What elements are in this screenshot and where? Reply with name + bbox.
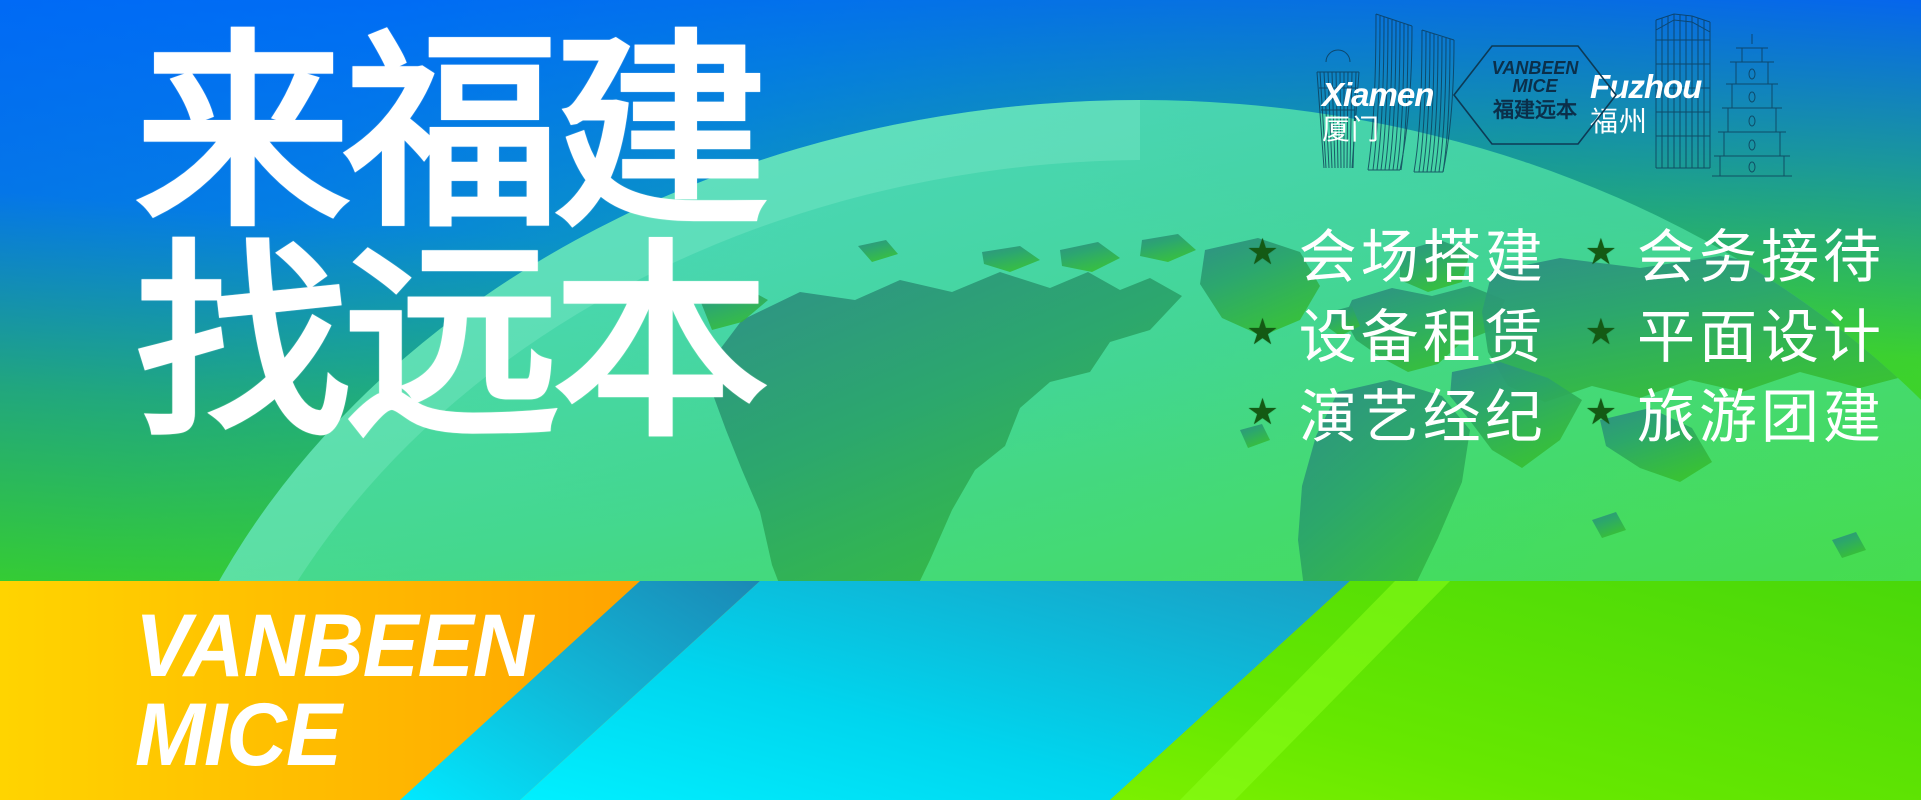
star-icon: ★ [1246, 234, 1278, 270]
star-icon: ★ [1585, 314, 1617, 350]
star-icon: ★ [1585, 394, 1617, 430]
city-label-xiamen: Xiamen 厦门 [1322, 78, 1433, 144]
service-item: ★ 会场搭建 [1246, 210, 1546, 294]
service-label: 设备租赁 [1299, 290, 1547, 374]
service-label: 演艺经纪 [1299, 370, 1547, 454]
services-row: ★ 设备租赁 ★ 平面设计 [1208, 292, 1885, 372]
brand-line-2: MICE [135, 692, 533, 777]
hexagon-logo-badge: VANBEEN MICE 福建远本 [1450, 40, 1620, 150]
badge-en-line-1: VANBEEN [1450, 59, 1620, 77]
badge-cn: 福建远本 [1450, 99, 1620, 123]
services-row: ★ 会场搭建 ★ 会务接待 [1208, 212, 1885, 292]
promotional-banner: 来福建 找远本 ★ 会场搭建 ★ 会务接待 ★ 设备租赁 [0, 0, 1921, 800]
service-label: 旅游团建 [1637, 370, 1885, 454]
service-label: 会场搭建 [1299, 210, 1547, 294]
star-icon: ★ [1246, 394, 1278, 430]
brand-wordmark: VANBEEN MICE [135, 603, 533, 772]
headline-line-2: 找远本 [135, 244, 762, 445]
brand-line-1: VANBEEN [135, 603, 533, 688]
city-landmarks-strip: Xiamen 厦门 Fuzhou 福州 VANBEEN MICE 福建远本 [1300, 0, 1800, 180]
service-item: ★ 平面设计 [1585, 290, 1885, 374]
services-list: ★ 会场搭建 ★ 会务接待 ★ 设备租赁 ★ 平面设计 [1208, 212, 1885, 452]
headline-line-1: 来福建 [135, 34, 762, 235]
fuzhou-pagoda [1712, 34, 1792, 176]
service-item: ★ 旅游团建 [1585, 370, 1885, 454]
service-label: 会务接待 [1637, 210, 1885, 294]
services-row: ★ 演艺经纪 ★ 旅游团建 [1208, 372, 1885, 452]
badge-en-line-2: MICE [1450, 77, 1620, 95]
bottom-brand-bar: VANBEEN MICE [0, 581, 1921, 800]
star-icon: ★ [1585, 234, 1617, 270]
main-panel: 来福建 找远本 ★ 会场搭建 ★ 会务接待 ★ 设备租赁 [0, 0, 1921, 581]
headline: 来福建 找远本 [135, 34, 705, 432]
service-item: ★ 设备租赁 [1246, 290, 1546, 374]
star-icon: ★ [1246, 314, 1278, 350]
service-item: ★ 演艺经纪 [1246, 370, 1546, 454]
city-name-cn: 厦门 [1322, 116, 1433, 144]
city-name-en: Xiamen [1322, 78, 1433, 111]
hexagon-badge-text: VANBEEN MICE 福建远本 [1450, 59, 1620, 123]
service-label: 平面设计 [1637, 290, 1885, 374]
service-item: ★ 会务接待 [1585, 210, 1885, 294]
